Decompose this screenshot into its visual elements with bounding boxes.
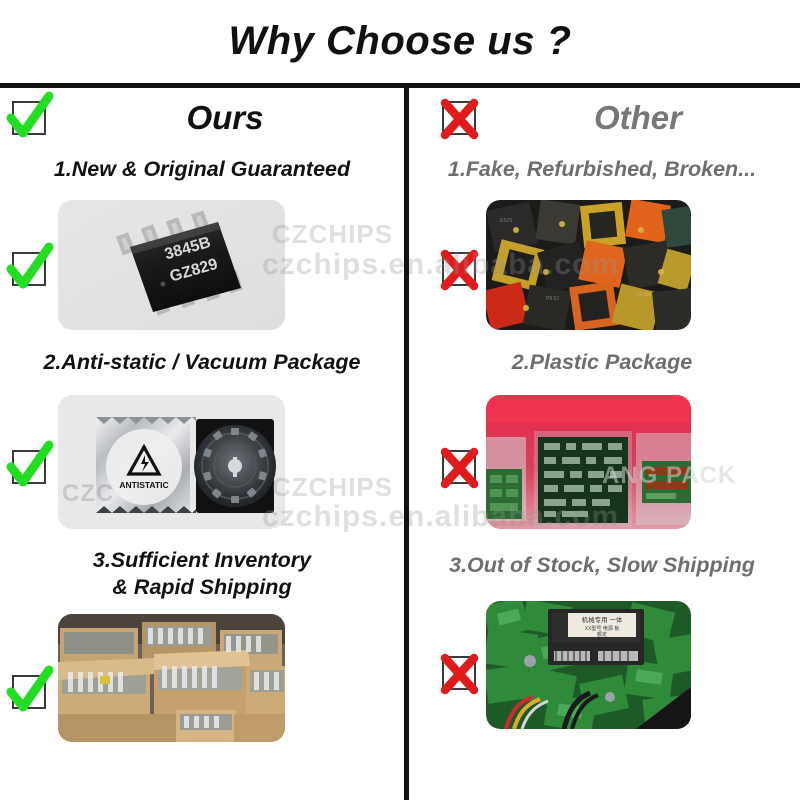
row-caption-ours-2: 2.Anti-static / Vacuum Package	[0, 340, 404, 384]
svg-text:P9 0J: P9 0J	[546, 296, 559, 302]
svg-text:XX型号 电源 板: XX型号 电源 板	[585, 625, 619, 632]
row-ours-1: 1.New & Original Guaranteed	[0, 148, 404, 340]
column-other: Other 1.Fake, Refurbished, Broken...	[404, 88, 800, 800]
row-caption-ours-3: 3.Sufficient Inventory & Rapid Shipping	[0, 539, 404, 601]
red-cross-icon	[442, 252, 476, 286]
red-cross-icon	[442, 101, 476, 135]
column-divider	[404, 88, 409, 800]
row-ours-2: 2.Anti-static / Vacuum Package	[0, 340, 404, 539]
scrap-pcb-pile-photo: 机械专用 一体 XX型号 电源 板 额定	[486, 601, 691, 729]
boxes-of-packed-ic-photo	[58, 614, 285, 742]
column-header-other: Other	[404, 88, 800, 148]
row-other-1: 1.Fake, Refurbished, Broken...	[404, 148, 800, 340]
svg-text:机械专用 一体: 机械专用 一体	[582, 615, 623, 624]
row-caption-other-3: 3.Out of Stock, Slow Shipping	[404, 539, 800, 591]
column-header-ours: Ours	[0, 88, 404, 148]
column-label-other: Other	[476, 99, 800, 137]
column-label-ours: Ours	[46, 99, 404, 137]
antistatic-label: ANTISTATIC	[119, 480, 168, 490]
antistatic-bag-and-reel-photo: ANTISTATIC	[58, 395, 285, 529]
row-caption-ours-3-line2: & Rapid Shipping	[8, 574, 396, 601]
green-check-icon	[12, 101, 46, 135]
row-other-2: 2.Plastic Package	[404, 340, 800, 539]
column-ours: Ours 1.New & Original Guaranteed	[0, 88, 404, 800]
green-check-icon	[12, 252, 46, 286]
pcb-in-plastic-bags-photo	[486, 395, 691, 529]
green-check-icon	[12, 450, 46, 484]
svg-text:ES70: ES70	[500, 218, 512, 224]
comparison-grid: Ours 1.New & Original Guaranteed	[0, 88, 800, 800]
green-check-icon	[12, 675, 46, 709]
red-cross-icon	[442, 450, 476, 484]
scrap-cpu-pile-photo: ES7004LS9 P9 0J	[486, 200, 691, 330]
row-caption-ours-3-line1: 3.Sufficient Inventory	[8, 547, 396, 574]
row-caption-ours-1: 1.New & Original Guaranteed	[0, 148, 404, 190]
row-ours-3: 3.Sufficient Inventory & Rapid Shipping	[0, 539, 404, 749]
row-caption-other-1: 1.Fake, Refurbished, Broken...	[404, 148, 800, 190]
red-cross-icon	[442, 656, 476, 690]
row-other-3: 3.Out of Stock, Slow Shipping	[404, 539, 800, 739]
page-title: Why Choose us ?	[0, 0, 800, 83]
soic8-chip-photo: 3845B GZ829	[58, 200, 285, 330]
svg-text:04LS9: 04LS9	[636, 292, 651, 298]
svg-text:额定: 额定	[597, 631, 607, 638]
row-caption-other-2: 2.Plastic Package	[404, 340, 800, 384]
